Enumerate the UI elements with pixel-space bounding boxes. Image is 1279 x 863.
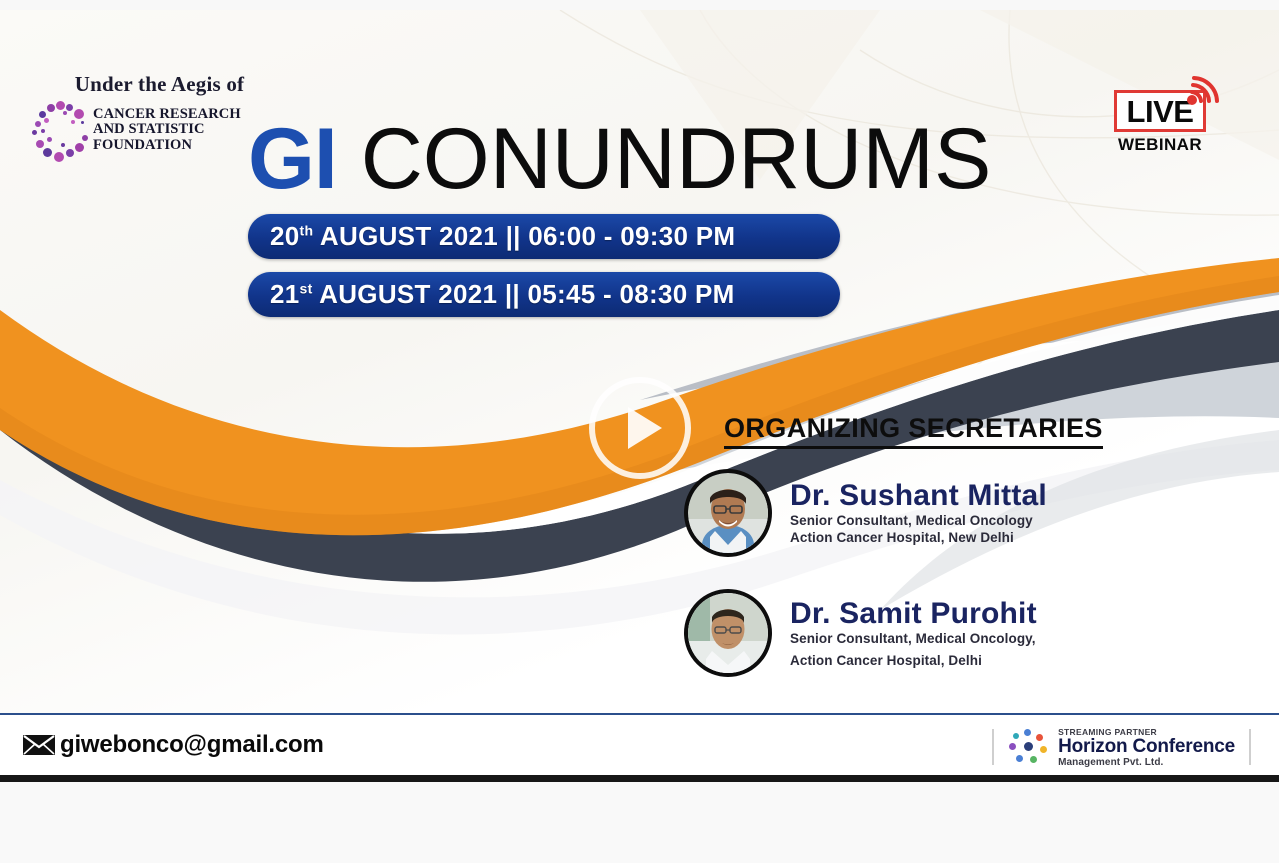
crsf-line-3: FOUNDATION [93,138,241,154]
person-role-line-2: Action Cancer Hospital, New Delhi [790,529,1047,546]
contact-email-block[interactable]: giwebonco@gmail.com [22,731,324,759]
secretary-person: Dr. Samit Purohit Senior Consultant, Med… [684,589,1104,677]
page-below-area [0,782,1279,863]
partner-name: Horizon Conference [1058,737,1235,757]
crsf-logo-row: CANCER RESEARCH AND STATISTIC FOUNDATION [30,99,275,161]
person-name: Dr. Samit Purohit [790,598,1037,630]
avatar [684,589,772,677]
date-1-ordinal: th [300,222,314,238]
wifi-broadcast-icon [1184,72,1224,108]
doctor-portrait-2 [688,593,768,673]
streaming-partner-block: STREAMING PARTNER Horizon Conference Man… [992,729,1251,765]
poster-footer: giwebonco@gmail.com STREAMING PARTNER Ho… [0,715,1279,775]
date-2-rest: AUGUST 2021 || 05:45 - 08:30 PM [313,279,735,309]
aegis-title: Under the Aegis of [44,72,275,97]
page-title: GI CONUNDRUMS [248,110,991,209]
aegis-logo-block: Under the Aegis of [30,72,275,161]
partner-text: STREAMING PARTNER Horizon Conference Man… [1058,727,1235,768]
contact-email: giwebonco@gmail.com [60,731,324,759]
date-1-rest: AUGUST 2021 || 06:00 - 09:30 PM [313,221,735,251]
person-role-line-1: Senior Consultant, Medical Oncology [790,512,1047,529]
crsf-line-2: AND STATISTIC [93,122,241,138]
date-2-day: 21 [270,279,300,309]
envelope-icon [22,734,56,756]
section-heading: ORGANIZING SECRETARIES [724,413,1103,449]
partner-kicker: STREAMING PARTNER [1058,727,1235,737]
poster-page: Under the Aegis of [0,0,1279,863]
crsf-org-name: CANCER RESEARCH AND STATISTIC FOUNDATION [93,107,241,154]
date-pill-day-1-text: 20th AUGUST 2021 || 06:00 - 09:30 PM [270,221,735,252]
person-role-line-2: Action Cancer Hospital, Delhi [790,652,1037,669]
play-button[interactable] [589,377,691,479]
date-pill-day-2-text: 21st AUGUST 2021 || 05:45 - 08:30 PM [270,279,735,310]
play-triangle-icon [628,407,662,449]
horizon-molecule-logo-icon [1008,728,1050,766]
date-pill-day-2: 21st AUGUST 2021 || 05:45 - 08:30 PM [248,272,840,317]
person-name: Dr. Sushant Mittal [790,480,1047,512]
date-2-ordinal: st [300,280,313,296]
crsf-c-logo-icon [30,99,92,161]
crsf-line-1: CANCER RESEARCH [93,107,241,123]
secretary-person: Dr. Sushant Mittal Senior Consultant, Me… [684,469,1104,557]
webinar-poster: Under the Aegis of [0,10,1279,775]
live-webinar-badge: LIVE WEBINAR [1114,90,1214,155]
partner-sub: Management Pvt. Ltd. [1058,757,1235,768]
organizing-secretaries-section: ORGANIZING SECRETARIES [684,413,1104,677]
title-gi: GI [248,111,337,207]
doctor-portrait-1 [688,473,768,553]
person-info: Dr. Samit Purohit Senior Consultant, Med… [790,598,1037,669]
person-info: Dr. Sushant Mittal Senior Consultant, Me… [790,480,1047,546]
poster-bottom-bar [0,775,1279,782]
date-pill-day-1: 20th AUGUST 2021 || 06:00 - 09:30 PM [248,214,840,259]
person-role-line-1: Senior Consultant, Medical Oncology, [790,630,1037,647]
webinar-label: WEBINAR [1114,135,1206,155]
date-1-day: 20 [270,221,300,251]
title-conundrums: CONUNDRUMS [337,111,992,207]
avatar [684,469,772,557]
